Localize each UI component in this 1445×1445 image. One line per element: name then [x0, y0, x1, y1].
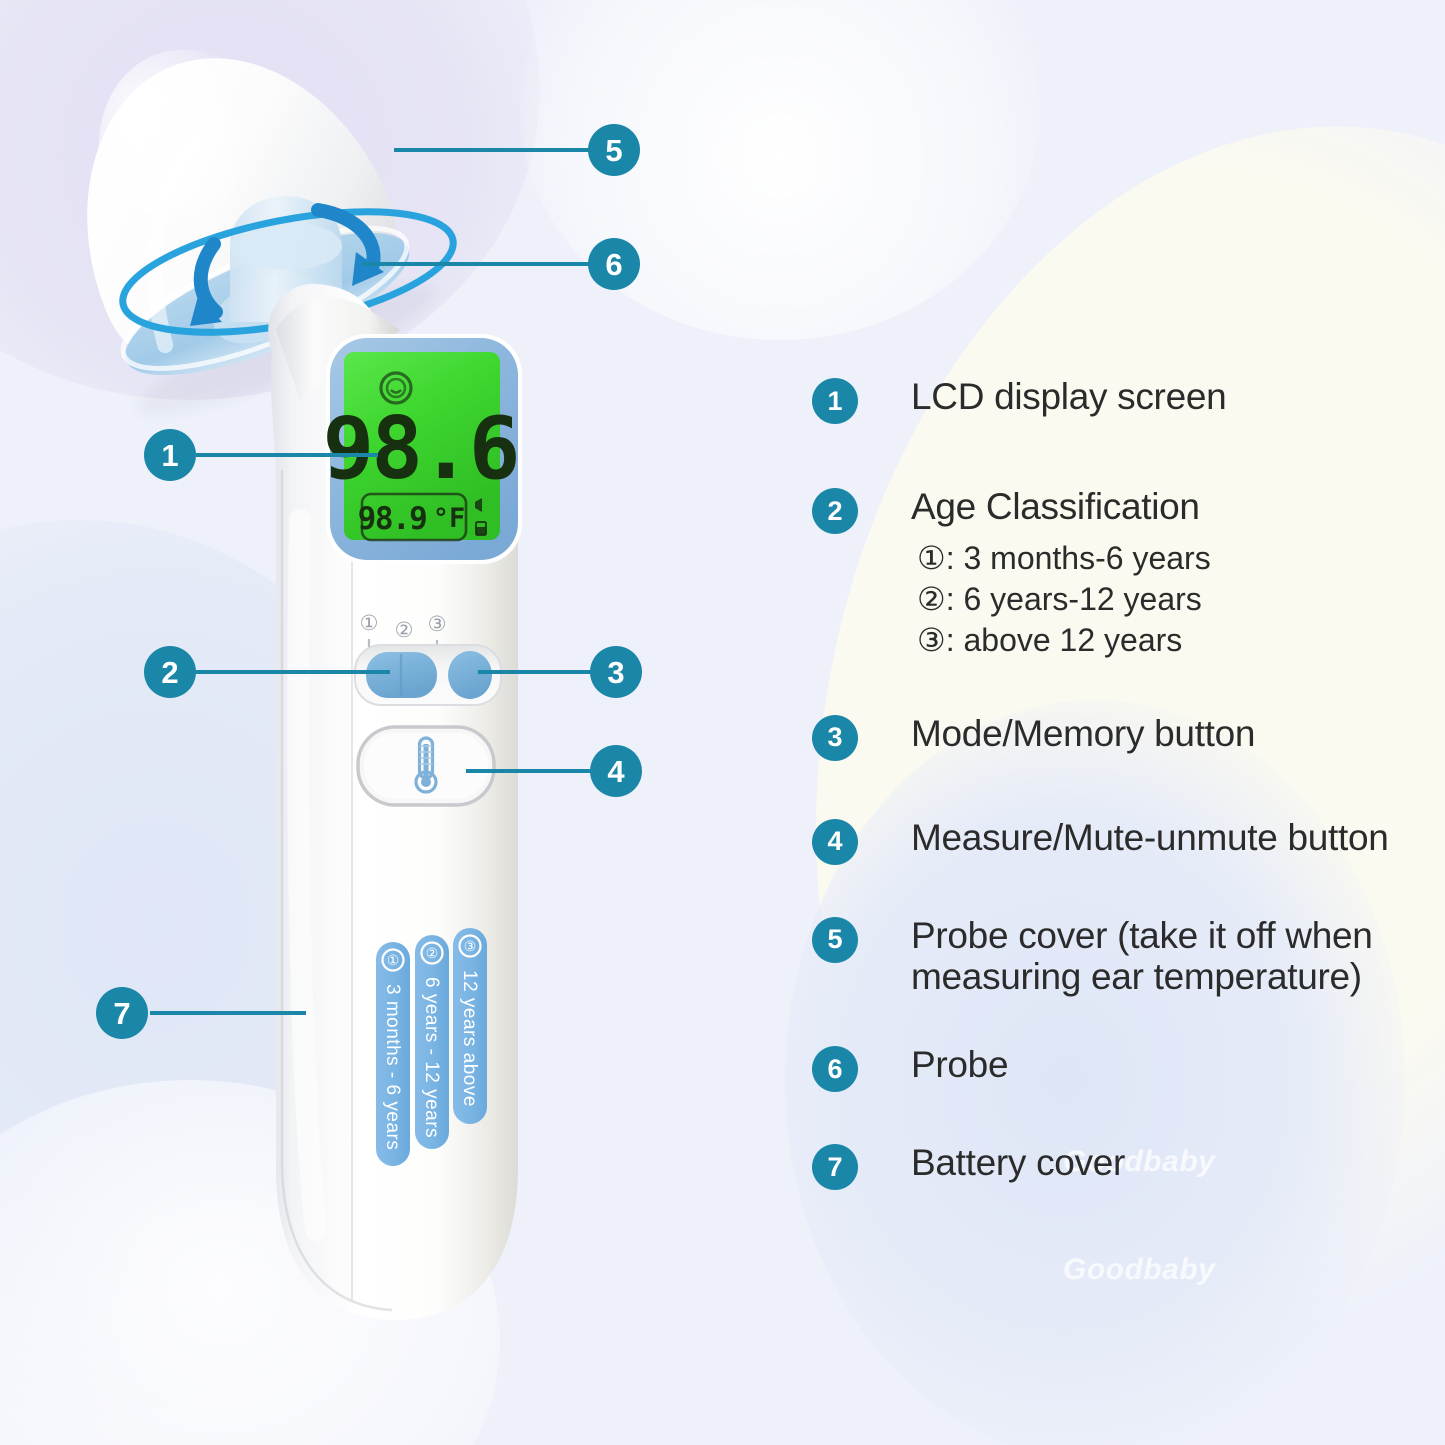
age-pill: ② 6 years - 12 years	[415, 935, 449, 1149]
age-subline-2: ②: 6 years-12 years	[917, 579, 1211, 620]
pill-text-2: 6 years - 12 years	[421, 977, 442, 1138]
legend-list: 1 LCD display screen 2 Age Classificatio…	[812, 376, 1432, 1208]
age-subline-1: ①: 3 months-6 years	[917, 538, 1211, 579]
legend-label-5: Probe cover (take it off when measuring …	[911, 915, 1432, 999]
legend-badge-1: 1	[812, 378, 858, 424]
leader-line-1	[196, 453, 378, 457]
lcd-display-screen: 98.6 98.9 °F	[322, 334, 522, 564]
age-subline-3: ③: above 12 years	[917, 620, 1211, 661]
callout-badge-4[interactable]: 4	[590, 745, 642, 797]
legend-item-6: 6 Probe	[812, 1044, 1432, 1092]
legend-label-4: Measure/Mute-unmute button	[911, 817, 1389, 859]
age-pill: ① 3 months - 6 years	[376, 942, 410, 1166]
leader-line-4	[466, 769, 596, 773]
tick-label-2: ②	[395, 619, 414, 642]
legend-label-2: Age Classification	[911, 486, 1211, 528]
callout-badge-2[interactable]: 2	[144, 646, 196, 698]
legend-item-1: 1 LCD display screen	[812, 376, 1432, 424]
legend-badge-4: 4	[812, 819, 858, 865]
product-diagram: Goodbaby Goodbaby	[0, 0, 1445, 1445]
callout-badge-5[interactable]: 5	[588, 124, 640, 176]
pill-text-1: 3 months - 6 years	[382, 984, 403, 1150]
leader-line-6	[362, 262, 594, 266]
leader-line-7	[150, 1011, 306, 1015]
brand-watermark: Goodbaby	[1063, 1253, 1215, 1287]
age-classification-sublist: ①: 3 months-6 years ②: 6 years-12 years …	[917, 538, 1211, 661]
tick-label-3: ③	[428, 613, 447, 636]
callout-badge-7[interactable]: 7	[96, 987, 148, 1039]
mode-memory-button[interactable]	[448, 651, 492, 699]
callout-badge-1[interactable]: 1	[144, 429, 196, 481]
legend-badge-2: 2	[812, 488, 858, 534]
legend-item-3: 3 Mode/Memory button	[812, 713, 1432, 761]
tick-label-1: ①	[360, 612, 379, 635]
legend-label-3: Mode/Memory button	[911, 713, 1255, 755]
thermometer-illustration: 98.6 98.9 °F ① ② ③	[0, 0, 760, 1445]
pill-marker-2: ②	[426, 945, 439, 961]
legend-item-4: 4 Measure/Mute-unmute button	[812, 817, 1432, 865]
pill-marker-3: ③	[464, 938, 477, 954]
legend-badge-6: 6	[812, 1046, 858, 1092]
pill-text-3: 12 years above	[459, 970, 480, 1107]
measure-button[interactable]	[358, 727, 494, 805]
leader-line-5	[394, 148, 594, 152]
pill-marker-1: ①	[387, 952, 400, 968]
switch-panel	[355, 645, 501, 705]
callout-badge-3[interactable]: 3	[590, 646, 642, 698]
callout-badge-6[interactable]: 6	[588, 238, 640, 290]
legend-item-5: 5 Probe cover (take it off when measurin…	[812, 915, 1432, 999]
legend-item-7: 7 Battery cover	[812, 1142, 1432, 1190]
legend-label-7: Battery cover	[911, 1142, 1125, 1184]
legend-label-1: LCD display screen	[911, 376, 1226, 418]
lcd-main-reading: 98.6	[322, 399, 517, 499]
legend-badge-7: 7	[812, 1144, 858, 1190]
legend-item-2: 2 Age Classification ①: 3 months-6 years…	[812, 486, 1432, 661]
age-pill: ③ 12 years above	[453, 928, 487, 1124]
legend-label-6: Probe	[911, 1044, 1008, 1086]
lcd-sub-reading: 98.9	[358, 501, 427, 537]
leader-line-2	[196, 670, 390, 674]
legend-badge-5: 5	[812, 917, 858, 963]
legend-badge-3: 3	[812, 715, 858, 761]
leader-line-3	[478, 670, 596, 674]
lcd-unit: °F	[433, 503, 466, 534]
